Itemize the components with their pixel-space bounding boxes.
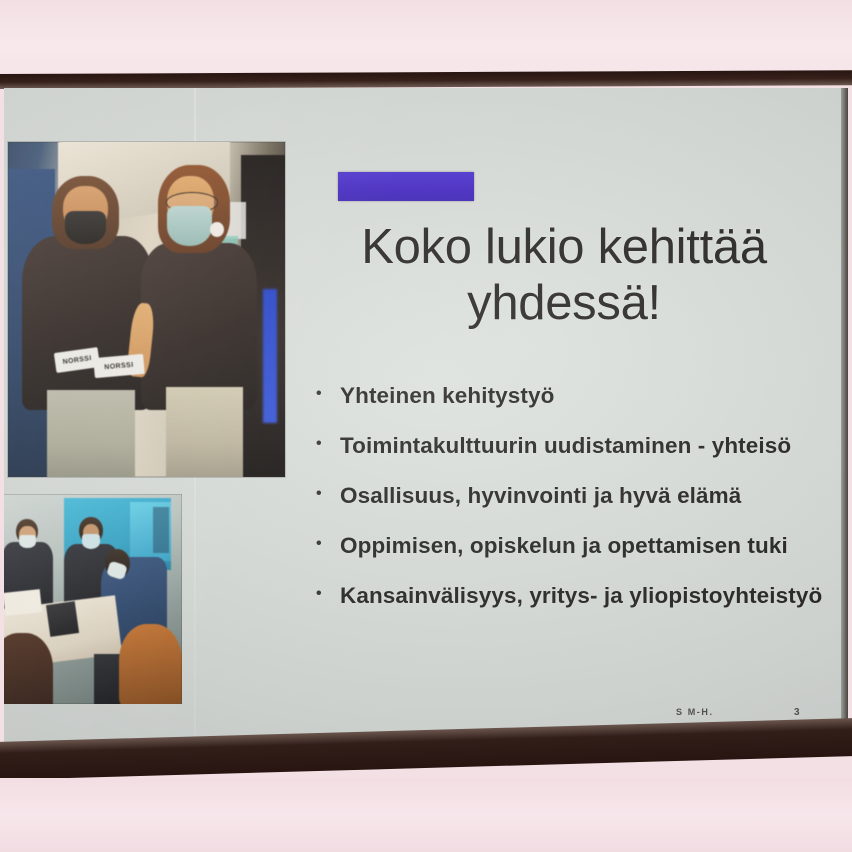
bullet-dot-icon: • — [316, 532, 340, 556]
page-title: Koko lukio kehittää yhdessä! — [304, 220, 824, 332]
bullet-dot-icon: • — [316, 432, 340, 456]
presentation-slide: NORSSI NORSSI — [4, 88, 847, 748]
list-item: • Toimintakulttuurin uudistaminen - yhte… — [316, 432, 846, 459]
list-item-label: Oppimisen, opiskelun ja opettamisen tuki — [340, 532, 846, 559]
photo-group-work — [4, 494, 182, 704]
wall-below-screen — [0, 778, 852, 852]
title-accent-bar — [338, 172, 474, 201]
list-item-label: Kansainvälisyys, yritys- ja yliopistoyht… — [340, 582, 846, 609]
list-item-label: Toimintakulttuurin uudistaminen - yhteis… — [340, 432, 846, 459]
bullet-dot-icon: • — [316, 482, 340, 506]
slide-footer: S M-H. 3 — [4, 700, 847, 724]
list-item: • Osallisuus, hyvinvointi ja hyvä elämä — [316, 482, 846, 509]
list-item-label: Osallisuus, hyvinvointi ja hyvä elämä — [340, 482, 846, 509]
footer-initials: S M-H. — [676, 707, 714, 717]
bullet-list: • Yhteinen kehitystyö • Toimintakulttuur… — [316, 382, 846, 632]
bullet-dot-icon: • — [316, 582, 340, 606]
wall-above-screen — [0, 0, 852, 76]
screen-top-trim — [0, 70, 852, 89]
photo-of-projected-slide: NORSSI NORSSI — [0, 0, 852, 852]
slide-page-number: 3 — [794, 707, 800, 718]
photo-two-students: NORSSI NORSSI — [8, 142, 285, 477]
screen-right-trim — [841, 88, 848, 748]
list-item: • Yhteinen kehitystyö — [316, 382, 846, 409]
list-item: • Kansainvälisyys, yritys- ja yliopistoy… — [316, 582, 846, 609]
list-item: • Oppimisen, opiskelun ja opettamisen tu… — [316, 532, 846, 559]
bullet-dot-icon: • — [316, 382, 340, 406]
list-item-label: Yhteinen kehitystyö — [340, 382, 846, 409]
